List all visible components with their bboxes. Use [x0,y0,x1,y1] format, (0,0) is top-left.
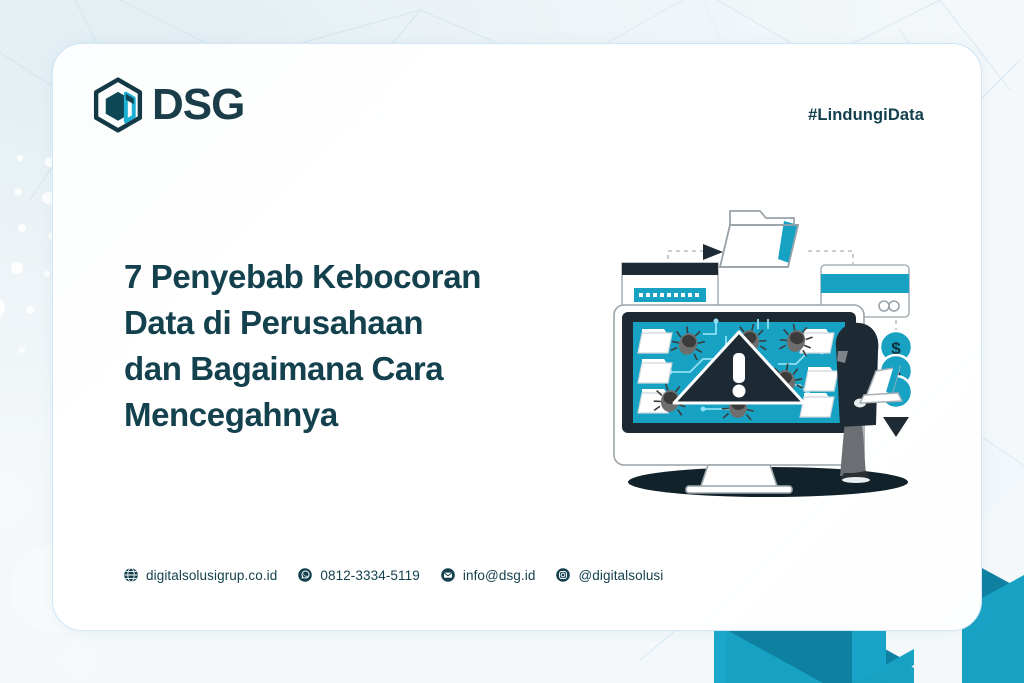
contact-website-text: digitalsolusigrup.co.id [146,568,277,583]
headline-line-1: 7 Penyebab Kebocoran [124,254,594,300]
envelope-icon [440,567,456,583]
dsg-hexagon-cube-logo [90,77,146,133]
footer-contact-bar: digitalsolusigrup.co.id 0812-3334-5119 i… [123,567,663,583]
contact-instagram[interactable]: @digitalsolusi [555,567,663,583]
logo-wordmark: DSG [152,83,244,127]
folder-icon [720,211,798,267]
contact-website[interactable]: digitalsolusigrup.co.id [123,567,277,583]
data-breach-illustration: $ $ [608,189,928,509]
whatsapp-icon [297,567,313,583]
headline-line-3: dan Bagaimana Cara [124,346,594,392]
headline-line-2: Data di Perusahaan [124,300,594,346]
globe-icon [123,567,139,583]
instagram-icon [555,567,571,583]
brand-logo[interactable]: DSG [90,77,244,133]
contact-whatsapp-text: 0812-3334-5119 [320,568,420,583]
contact-whatsapp[interactable]: 0812-3334-5119 [297,567,420,583]
headline-line-4: Mencegahnya [124,392,594,438]
decor-circle [58,640,98,680]
contact-email[interactable]: info@dsg.id [440,567,536,583]
page-title: 7 Penyebab Kebocoran Data di Perusahaan … [124,254,594,438]
contact-instagram-text: @digitalsolusi [578,568,663,583]
hashtag-label: #LindungiData [808,106,924,125]
arrow-marker [703,244,723,260]
content-card: DSG #LindungiData 7 Penyebab Kebocoran D… [52,43,982,631]
contact-email-text: info@dsg.id [463,568,536,583]
arrow-marker-down [883,417,909,437]
